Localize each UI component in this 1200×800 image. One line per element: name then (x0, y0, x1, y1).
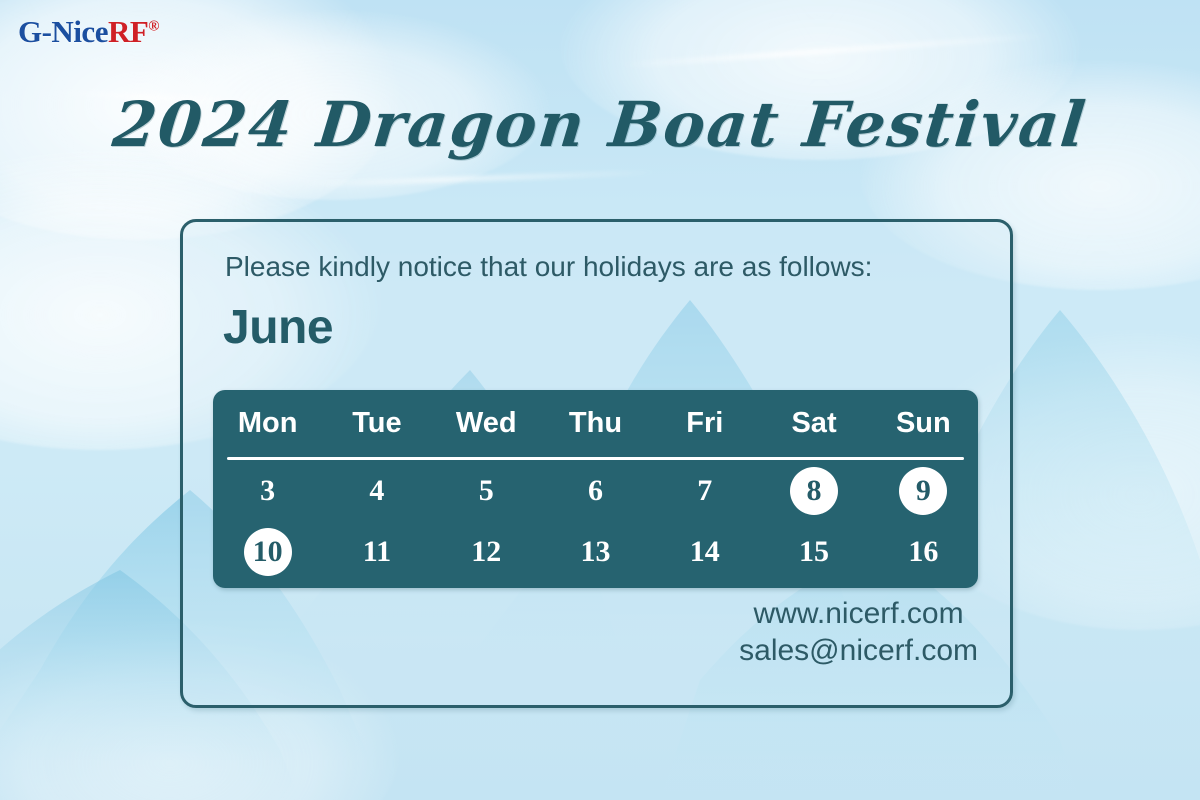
weekday-wed: Wed (432, 390, 541, 456)
holiday-calendar: Mon Tue Wed Thu Fri Sat Sun (213, 390, 978, 588)
weekday-mon: Mon (213, 390, 322, 456)
weekday-fri: Fri (650, 390, 759, 456)
cloud-streak (300, 170, 660, 188)
day-number: 16 (899, 528, 947, 576)
day-number: 15 (790, 528, 838, 576)
festival-title: 2024 Dragon Boat Festival (0, 88, 1200, 161)
day-number: 6 (571, 467, 619, 515)
poster-canvas: G-NiceRF® 2024 Dragon Boat Festival Plea… (0, 0, 1200, 800)
day-number: 4 (353, 467, 401, 515)
calendar-cell[interactable]: 6 (541, 460, 650, 521)
day-number: 11 (353, 528, 401, 576)
calendar-cell[interactable]: 4 (322, 460, 431, 521)
notice-text: Please kindly notice that our holidays a… (225, 251, 872, 283)
calendar-cell[interactable]: 16 (869, 521, 978, 588)
calendar-cell-holiday[interactable]: 8 (759, 460, 868, 521)
calendar-cell[interactable]: 13 (541, 521, 650, 588)
day-number: 14 (681, 528, 729, 576)
day-number: 7 (681, 467, 729, 515)
month-label: June (223, 300, 333, 355)
calendar-row: 3 4 5 6 7 8 9 (213, 460, 978, 521)
brand-logo: G-NiceRF® (18, 16, 159, 47)
registered-trademark-icon: ® (148, 19, 159, 35)
email-link[interactable]: sales@nicerf.com (739, 633, 978, 670)
calendar-header: Mon Tue Wed Thu Fri Sat Sun (213, 390, 978, 460)
logo-text-suffix: RF (108, 14, 148, 49)
holiday-notice-panel: Please kindly notice that our holidays a… (180, 219, 1013, 708)
day-number: 3 (244, 467, 292, 515)
weekday-thu: Thu (541, 390, 650, 456)
weekday-sat: Sat (759, 390, 868, 456)
day-number-highlighted: 9 (899, 467, 947, 515)
calendar-cell-holiday[interactable]: 9 (869, 460, 978, 521)
day-number: 13 (571, 528, 619, 576)
calendar-table: Mon Tue Wed Thu Fri Sat Sun (213, 390, 978, 588)
weekday-tue: Tue (322, 390, 431, 456)
calendar-body: 3 4 5 6 7 8 9 10 11 12 13 14 15 (213, 460, 978, 588)
calendar-cell[interactable]: 3 (213, 460, 322, 521)
day-number: 12 (462, 528, 510, 576)
calendar-cell-holiday[interactable]: 10 (213, 521, 322, 588)
calendar-row: 10 11 12 13 14 15 16 (213, 521, 978, 588)
day-number-highlighted: 8 (790, 467, 838, 515)
cloud-streak (620, 33, 1049, 68)
calendar-cell[interactable]: 11 (322, 521, 431, 588)
logo-text-prefix: G-Nice (18, 14, 108, 49)
contact-info: www.nicerf.com sales@nicerf.com (739, 596, 978, 669)
calendar-cell[interactable]: 14 (650, 521, 759, 588)
calendar-cell[interactable]: 5 (432, 460, 541, 521)
website-link[interactable]: www.nicerf.com (739, 596, 978, 633)
day-number-highlighted: 10 (244, 528, 292, 576)
weekday-header-row: Mon Tue Wed Thu Fri Sat Sun (213, 390, 978, 456)
weekday-sun: Sun (869, 390, 978, 456)
calendar-cell[interactable]: 7 (650, 460, 759, 521)
calendar-cell[interactable]: 15 (759, 521, 868, 588)
calendar-cell[interactable]: 12 (432, 521, 541, 588)
day-number: 5 (462, 467, 510, 515)
